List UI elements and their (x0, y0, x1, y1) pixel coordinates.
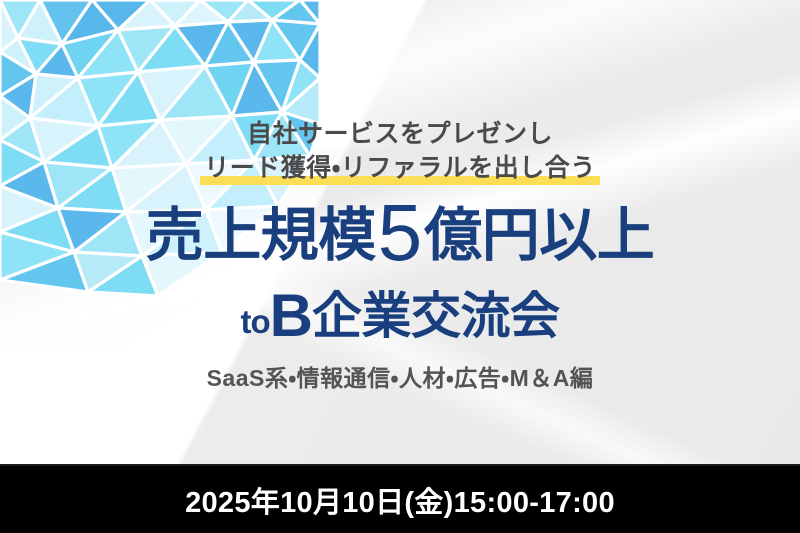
title-to-label: to (241, 303, 270, 340)
title-line-2-rest: 企業交流会 (312, 288, 560, 344)
title-prefix: 売上規模 (146, 203, 376, 268)
subtitle-highlight: リード獲得・リファラルを出し合う (200, 148, 600, 184)
event-banner: 自社サービスをプレゼンし リード獲得・リファラルを出し合う 売上規模5億円以上 … (0, 0, 800, 533)
title-line-2: toB企業交流会 (0, 282, 800, 353)
title-b-label: B (270, 282, 312, 349)
event-datetime: 2025年10月10日(金)15:00-17:00 (185, 479, 615, 521)
subtitle-line-2: リード獲得・リファラルを出し合う (204, 154, 596, 182)
date-bar: 2025年10月10日(金)15:00-17:00 (0, 464, 800, 533)
title-line-1: 売上規模5億円以上 (0, 200, 800, 272)
subtitle-line-2-wrapper: リード獲得・リファラルを出し合う (0, 148, 800, 184)
subtitle-line-1: 自社サービスをプレゼンし (0, 114, 800, 150)
title-suffix: 億円以上 (424, 203, 654, 268)
title-number: 5 (378, 188, 423, 277)
category-tagline: SaaS系・情報通信・人材・広告・M＆A編 (0, 359, 800, 393)
banner-content: 自社サービスをプレゼンし リード獲得・リファラルを出し合う 売上規模5億円以上 … (0, 0, 800, 466)
